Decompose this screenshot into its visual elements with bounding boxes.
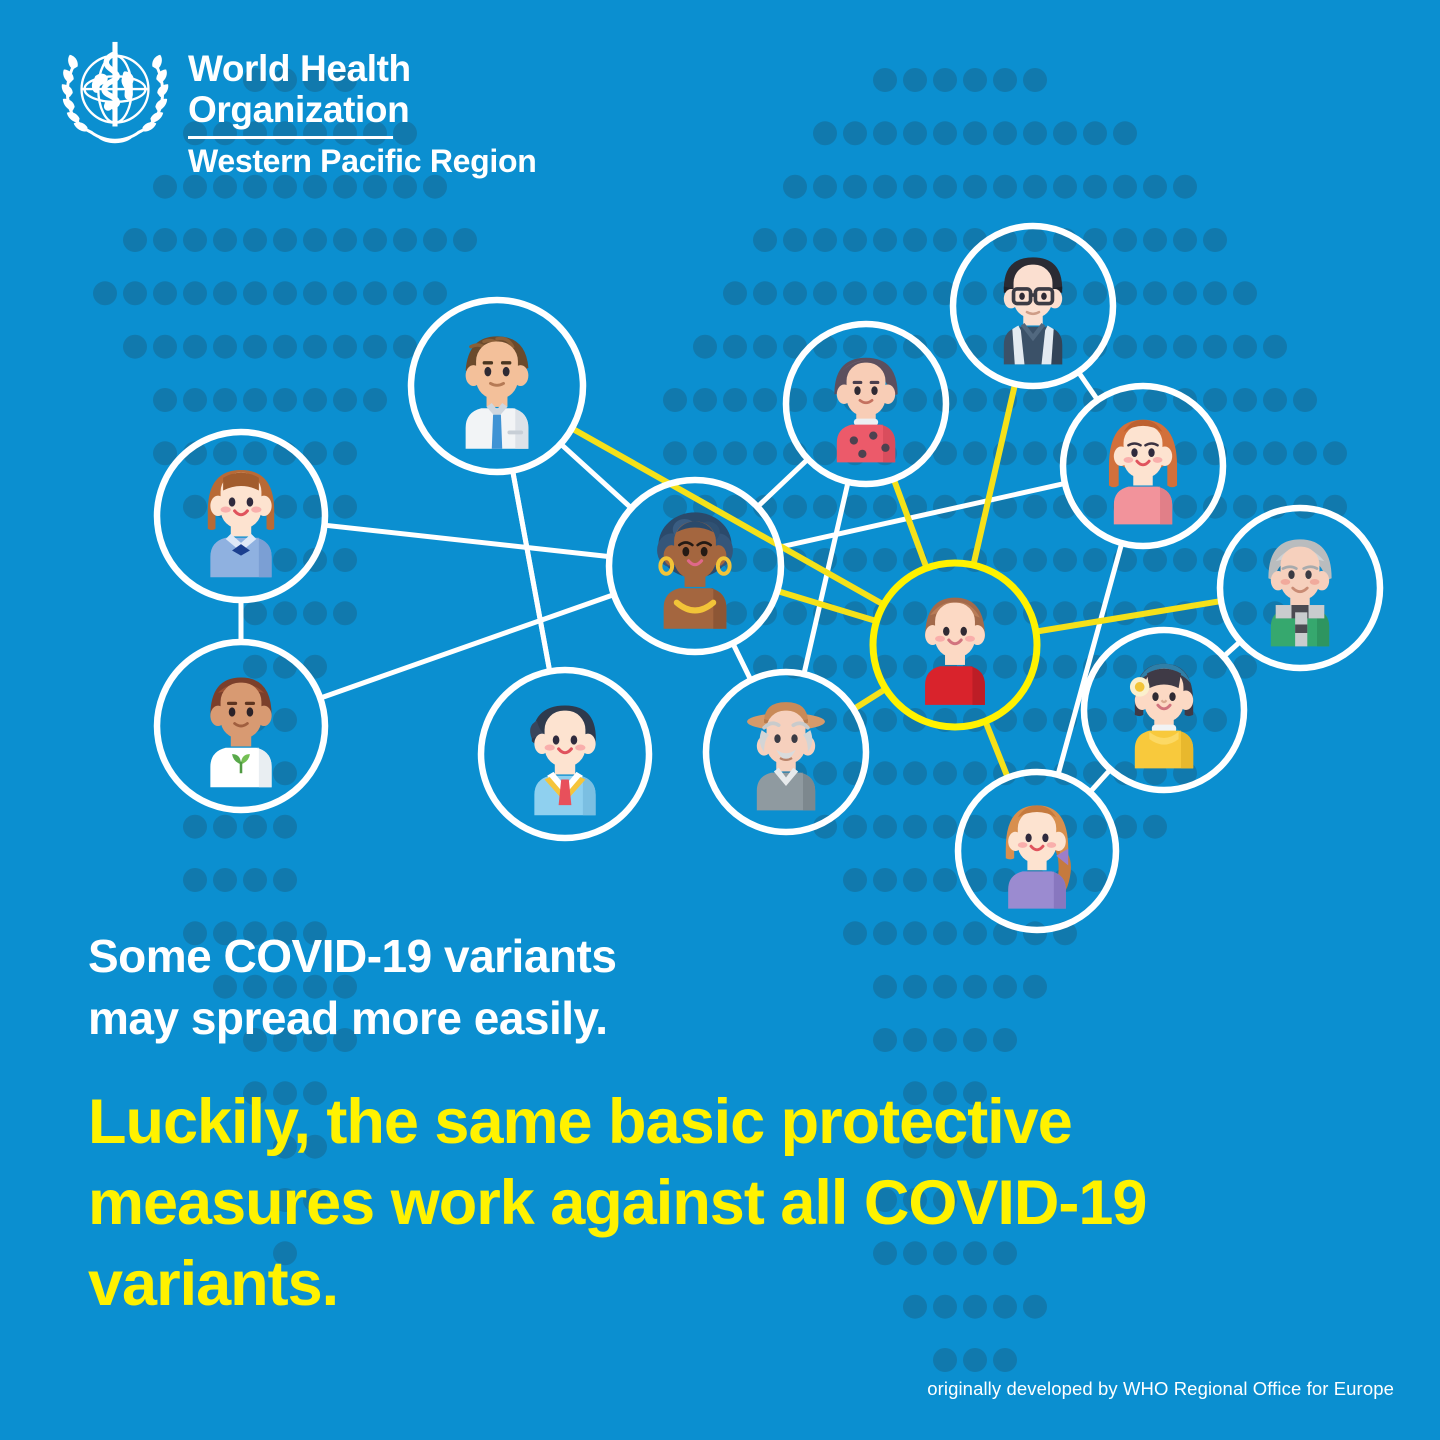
network-node-man-green-leaf-shirt bbox=[157, 642, 325, 810]
message-line-3: variants. bbox=[88, 1244, 1358, 1325]
network-node-elder-grey-scarf bbox=[1220, 508, 1380, 668]
network-edge bbox=[324, 525, 609, 556]
network-node-elder-brown-hat bbox=[706, 672, 866, 832]
network-edge bbox=[1224, 641, 1241, 656]
avatar-elder-grey-scarf bbox=[1268, 539, 1331, 646]
avatar-elder-brown-hat bbox=[747, 702, 825, 810]
network-node-woman-auburn-pink bbox=[1063, 386, 1223, 546]
headline-line-2: may spread more easily. bbox=[88, 987, 1088, 1049]
avatar-woman-afro-gold-jewelry bbox=[657, 512, 733, 628]
network-node-woman-bob-blue-uniform bbox=[157, 432, 325, 600]
credit-line: originally developed by WHO Regional Off… bbox=[927, 1378, 1394, 1400]
message-line-2: measures work against all COVID-19 bbox=[88, 1163, 1358, 1244]
avatar-boy-red-tie-uniform bbox=[530, 705, 596, 815]
headline-white: Some COVID-19 variants may spread more e… bbox=[88, 925, 1088, 1049]
network-edge bbox=[1078, 372, 1097, 400]
headline-line-1: Some COVID-19 variants bbox=[88, 930, 616, 982]
network-node-man-glasses-cap bbox=[953, 226, 1113, 386]
avatar-woman-auburn-pink bbox=[1109, 420, 1177, 525]
network-edge bbox=[320, 595, 614, 698]
network-node-boy-red-tie-uniform bbox=[481, 670, 649, 838]
network-node-person-red-polkadot bbox=[786, 324, 946, 484]
network-edge bbox=[1036, 601, 1221, 632]
network-edge bbox=[973, 384, 1015, 565]
network-edge bbox=[779, 483, 1065, 547]
network-edge bbox=[757, 459, 807, 507]
avatar-man-glasses-cap bbox=[1004, 257, 1062, 364]
network-nodes bbox=[157, 226, 1380, 930]
avatar-woman-flower-yellow bbox=[1130, 664, 1193, 769]
network-edge bbox=[1090, 769, 1111, 792]
avatar-woman-bob-blue-uniform bbox=[208, 470, 274, 577]
avatar-person-red-polkadot bbox=[834, 358, 897, 463]
avatar-girl-ponytail-purple bbox=[1006, 805, 1071, 908]
poster-canvas: World Health Organization Western Pacifi… bbox=[0, 0, 1440, 1440]
network-edge bbox=[733, 643, 751, 680]
network-edge bbox=[894, 479, 927, 568]
network-node-boy-red-shirt-infected bbox=[873, 563, 1037, 727]
message-yellow: Luckily, the same basic protective measu… bbox=[88, 1082, 1358, 1325]
network-edge bbox=[985, 721, 1007, 777]
avatar-man-white-shirt-tie bbox=[466, 336, 529, 448]
network-edges-white bbox=[241, 372, 1240, 792]
network-node-woman-flower-yellow bbox=[1084, 630, 1244, 790]
network-edge bbox=[513, 471, 550, 672]
network-node-woman-afro-gold-jewelry bbox=[609, 480, 781, 652]
network-node-girl-ponytail-purple bbox=[958, 772, 1116, 930]
avatar-man-green-leaf-shirt bbox=[210, 677, 271, 787]
network-node-man-white-shirt-tie bbox=[411, 300, 583, 472]
avatar-boy-red-shirt-infected bbox=[925, 598, 985, 705]
message-line-1: Luckily, the same basic protective bbox=[88, 1082, 1358, 1163]
contact-network-diagram bbox=[0, 0, 1440, 1000]
network-edge bbox=[854, 689, 886, 709]
